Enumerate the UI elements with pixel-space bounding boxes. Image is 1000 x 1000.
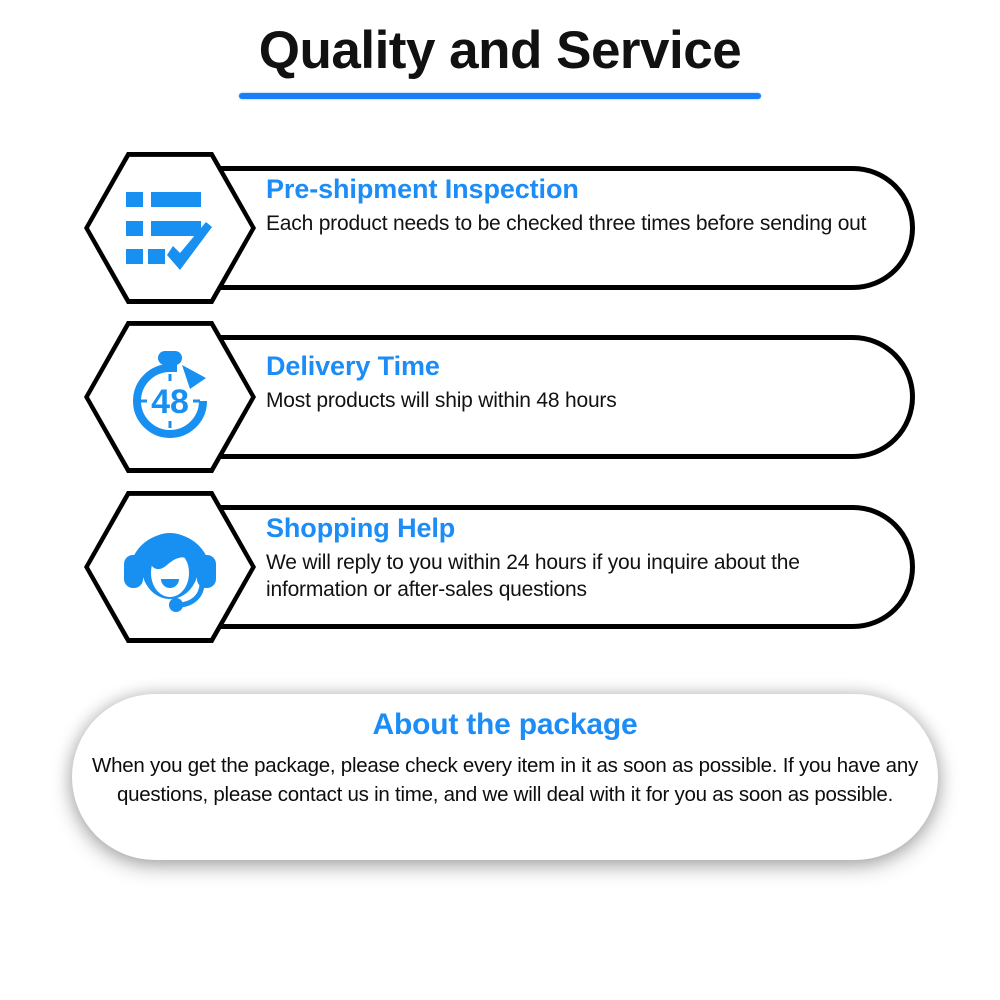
page-title: Quality and Service: [0, 22, 1000, 79]
about-the-package-panel: About the package When you get the packa…: [72, 694, 938, 860]
feature-title: Delivery Time: [266, 351, 876, 383]
headset-support-agent-icon: [120, 517, 220, 617]
feature-description: We will reply to you within 24 hours if …: [266, 549, 876, 604]
feature-description: Each product needs to be checked three t…: [266, 210, 876, 237]
feature-title: Shopping Help: [266, 513, 876, 545]
feature-title: Pre-shipment Inspection: [266, 174, 876, 206]
feature-description: Most products will ship within 48 hours: [266, 387, 876, 414]
feature-text-block: Delivery Time Most products will ship wi…: [266, 351, 876, 414]
feature-row-pre-shipment-inspection: Pre-shipment Inspection Each product nee…: [0, 148, 1000, 308]
page-header: Quality and Service: [0, 22, 1000, 99]
quality-and-service-page: Quality and Service Pre-shipment Inspect…: [0, 0, 1000, 1000]
feature-text-block: Pre-shipment Inspection Each product nee…: [266, 174, 876, 237]
package-panel-body: When you get the package, please check e…: [90, 752, 920, 809]
package-panel-title: About the package: [72, 708, 938, 742]
feature-row-delivery-time: Delivery Time Most products will ship wi…: [0, 317, 1000, 477]
title-underline-rule: [239, 93, 761, 99]
feature-row-shopping-help: Shopping Help We will reply to you withi…: [0, 487, 1000, 647]
stopwatch-badge-value: 48: [151, 383, 189, 421]
feature-text-block: Shopping Help We will reply to you withi…: [266, 513, 876, 603]
stopwatch-48-icon: 48: [120, 347, 220, 447]
checklist-check-icon: [120, 178, 220, 278]
